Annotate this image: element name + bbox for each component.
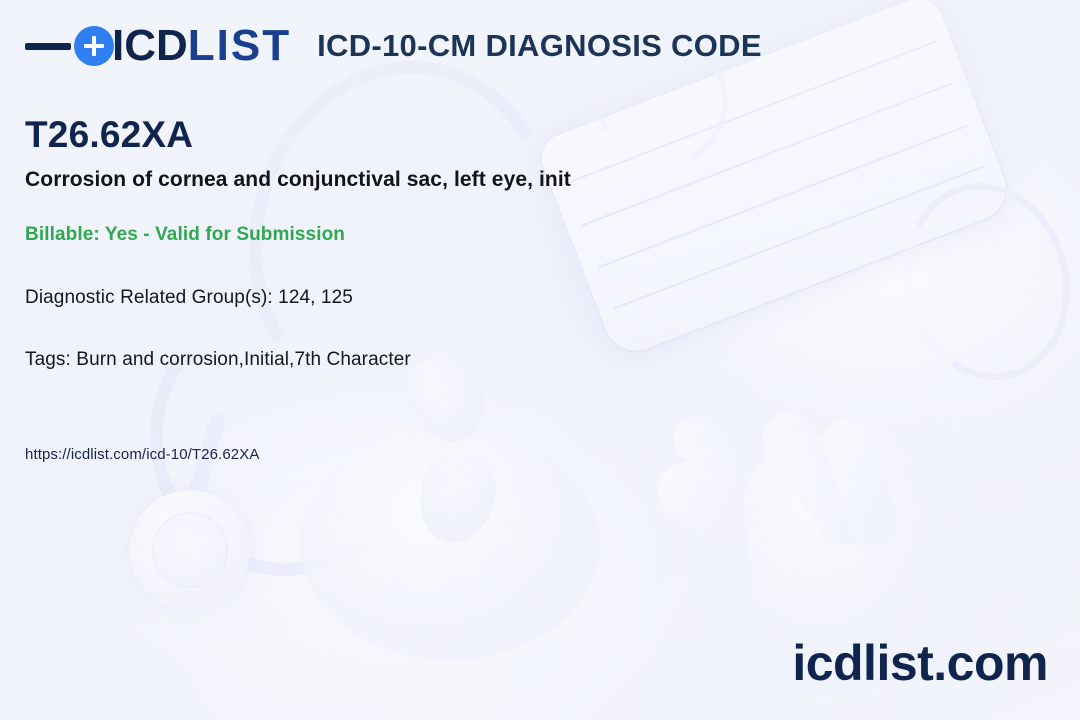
logo-dash-icon — [25, 43, 71, 50]
logo-text-list: LIST — [188, 24, 291, 68]
logo-text-icd: ICD — [112, 24, 188, 68]
diagnosis-code: T26.62XA — [25, 114, 193, 156]
tags-list: Tags: Burn and corrosion,Initial,7th Cha… — [25, 349, 411, 371]
content: ICD LIST ICD-10-CM DIAGNOSIS CODE T26.62… — [0, 0, 1080, 720]
page-root: ICD LIST ICD-10-CM DIAGNOSIS CODE T26.62… — [0, 0, 1080, 720]
header: ICD LIST ICD-10-CM DIAGNOSIS CODE — [25, 24, 762, 68]
plus-icon — [74, 26, 114, 66]
icdlist-logo[interactable]: ICD LIST — [25, 24, 291, 68]
billable-status: Billable: Yes - Valid for Submission — [25, 224, 345, 246]
plus-icon-vertical — [92, 36, 96, 56]
page-title: ICD-10-CM DIAGNOSIS CODE — [317, 28, 762, 64]
diagnosis-description: Corrosion of cornea and conjunctival sac… — [25, 168, 571, 192]
diagnostic-related-groups: Diagnostic Related Group(s): 124, 125 — [25, 287, 353, 309]
source-url[interactable]: https://icdlist.com/icd-10/T26.62XA — [25, 446, 259, 463]
site-watermark: icdlist.com — [792, 634, 1048, 692]
